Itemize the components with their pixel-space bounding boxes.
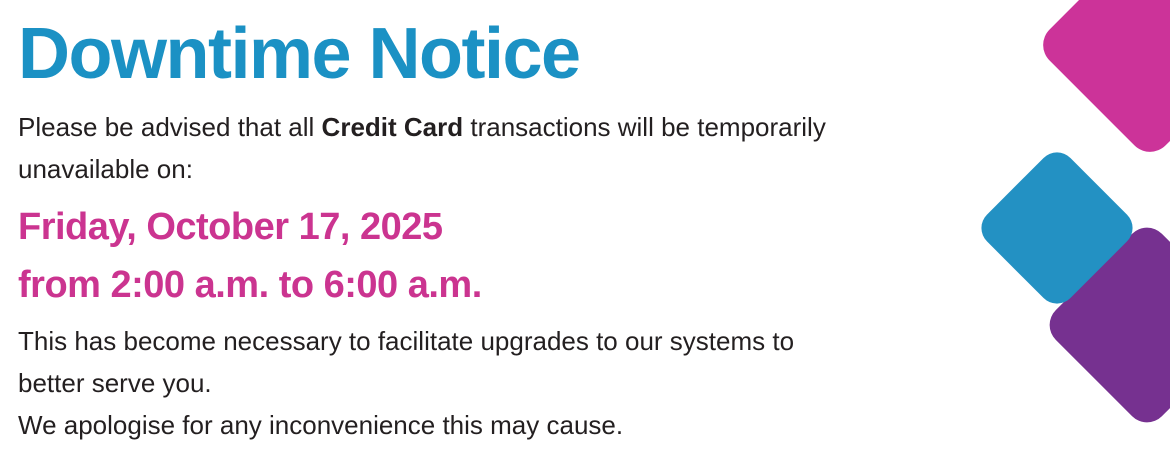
credit-card-emphasis: Credit Card — [322, 112, 464, 142]
downtime-notice-banner: Downtime Notice Please be advised that a… — [0, 0, 1170, 470]
closing-line-3: We apologise for any inconvenience this … — [18, 404, 978, 446]
closing-paragraph: This has become necessary to facilitate … — [18, 320, 978, 446]
intro-line-1-prefix: Please be advised that all — [18, 112, 322, 142]
intro-line-1: Please be advised that all Credit Card t… — [18, 106, 978, 148]
outage-date: Friday, October 17, 2025 — [18, 198, 978, 256]
purple-diamond-icon — [1041, 219, 1170, 431]
decorative-diamond-cluster — [980, 0, 1170, 470]
intro-paragraph: Please be advised that all Credit Card t… — [18, 106, 978, 190]
schedule-block: Friday, October 17, 2025 from 2:00 a.m. … — [18, 198, 978, 314]
intro-line-2: unavailable on: — [18, 148, 978, 190]
notice-content: Downtime Notice Please be advised that a… — [18, 0, 978, 446]
magenta-diamond-icon — [1034, 0, 1170, 161]
blue-diamond-icon — [974, 145, 1141, 312]
outage-time-range: from 2:00 a.m. to 6:00 a.m. — [18, 256, 978, 314]
intro-line-1-suffix: transactions will be temporarily — [463, 112, 826, 142]
closing-line-2: better serve you. — [18, 362, 978, 404]
closing-line-1: This has become necessary to facilitate … — [18, 320, 978, 362]
page-title: Downtime Notice — [18, 0, 978, 90]
